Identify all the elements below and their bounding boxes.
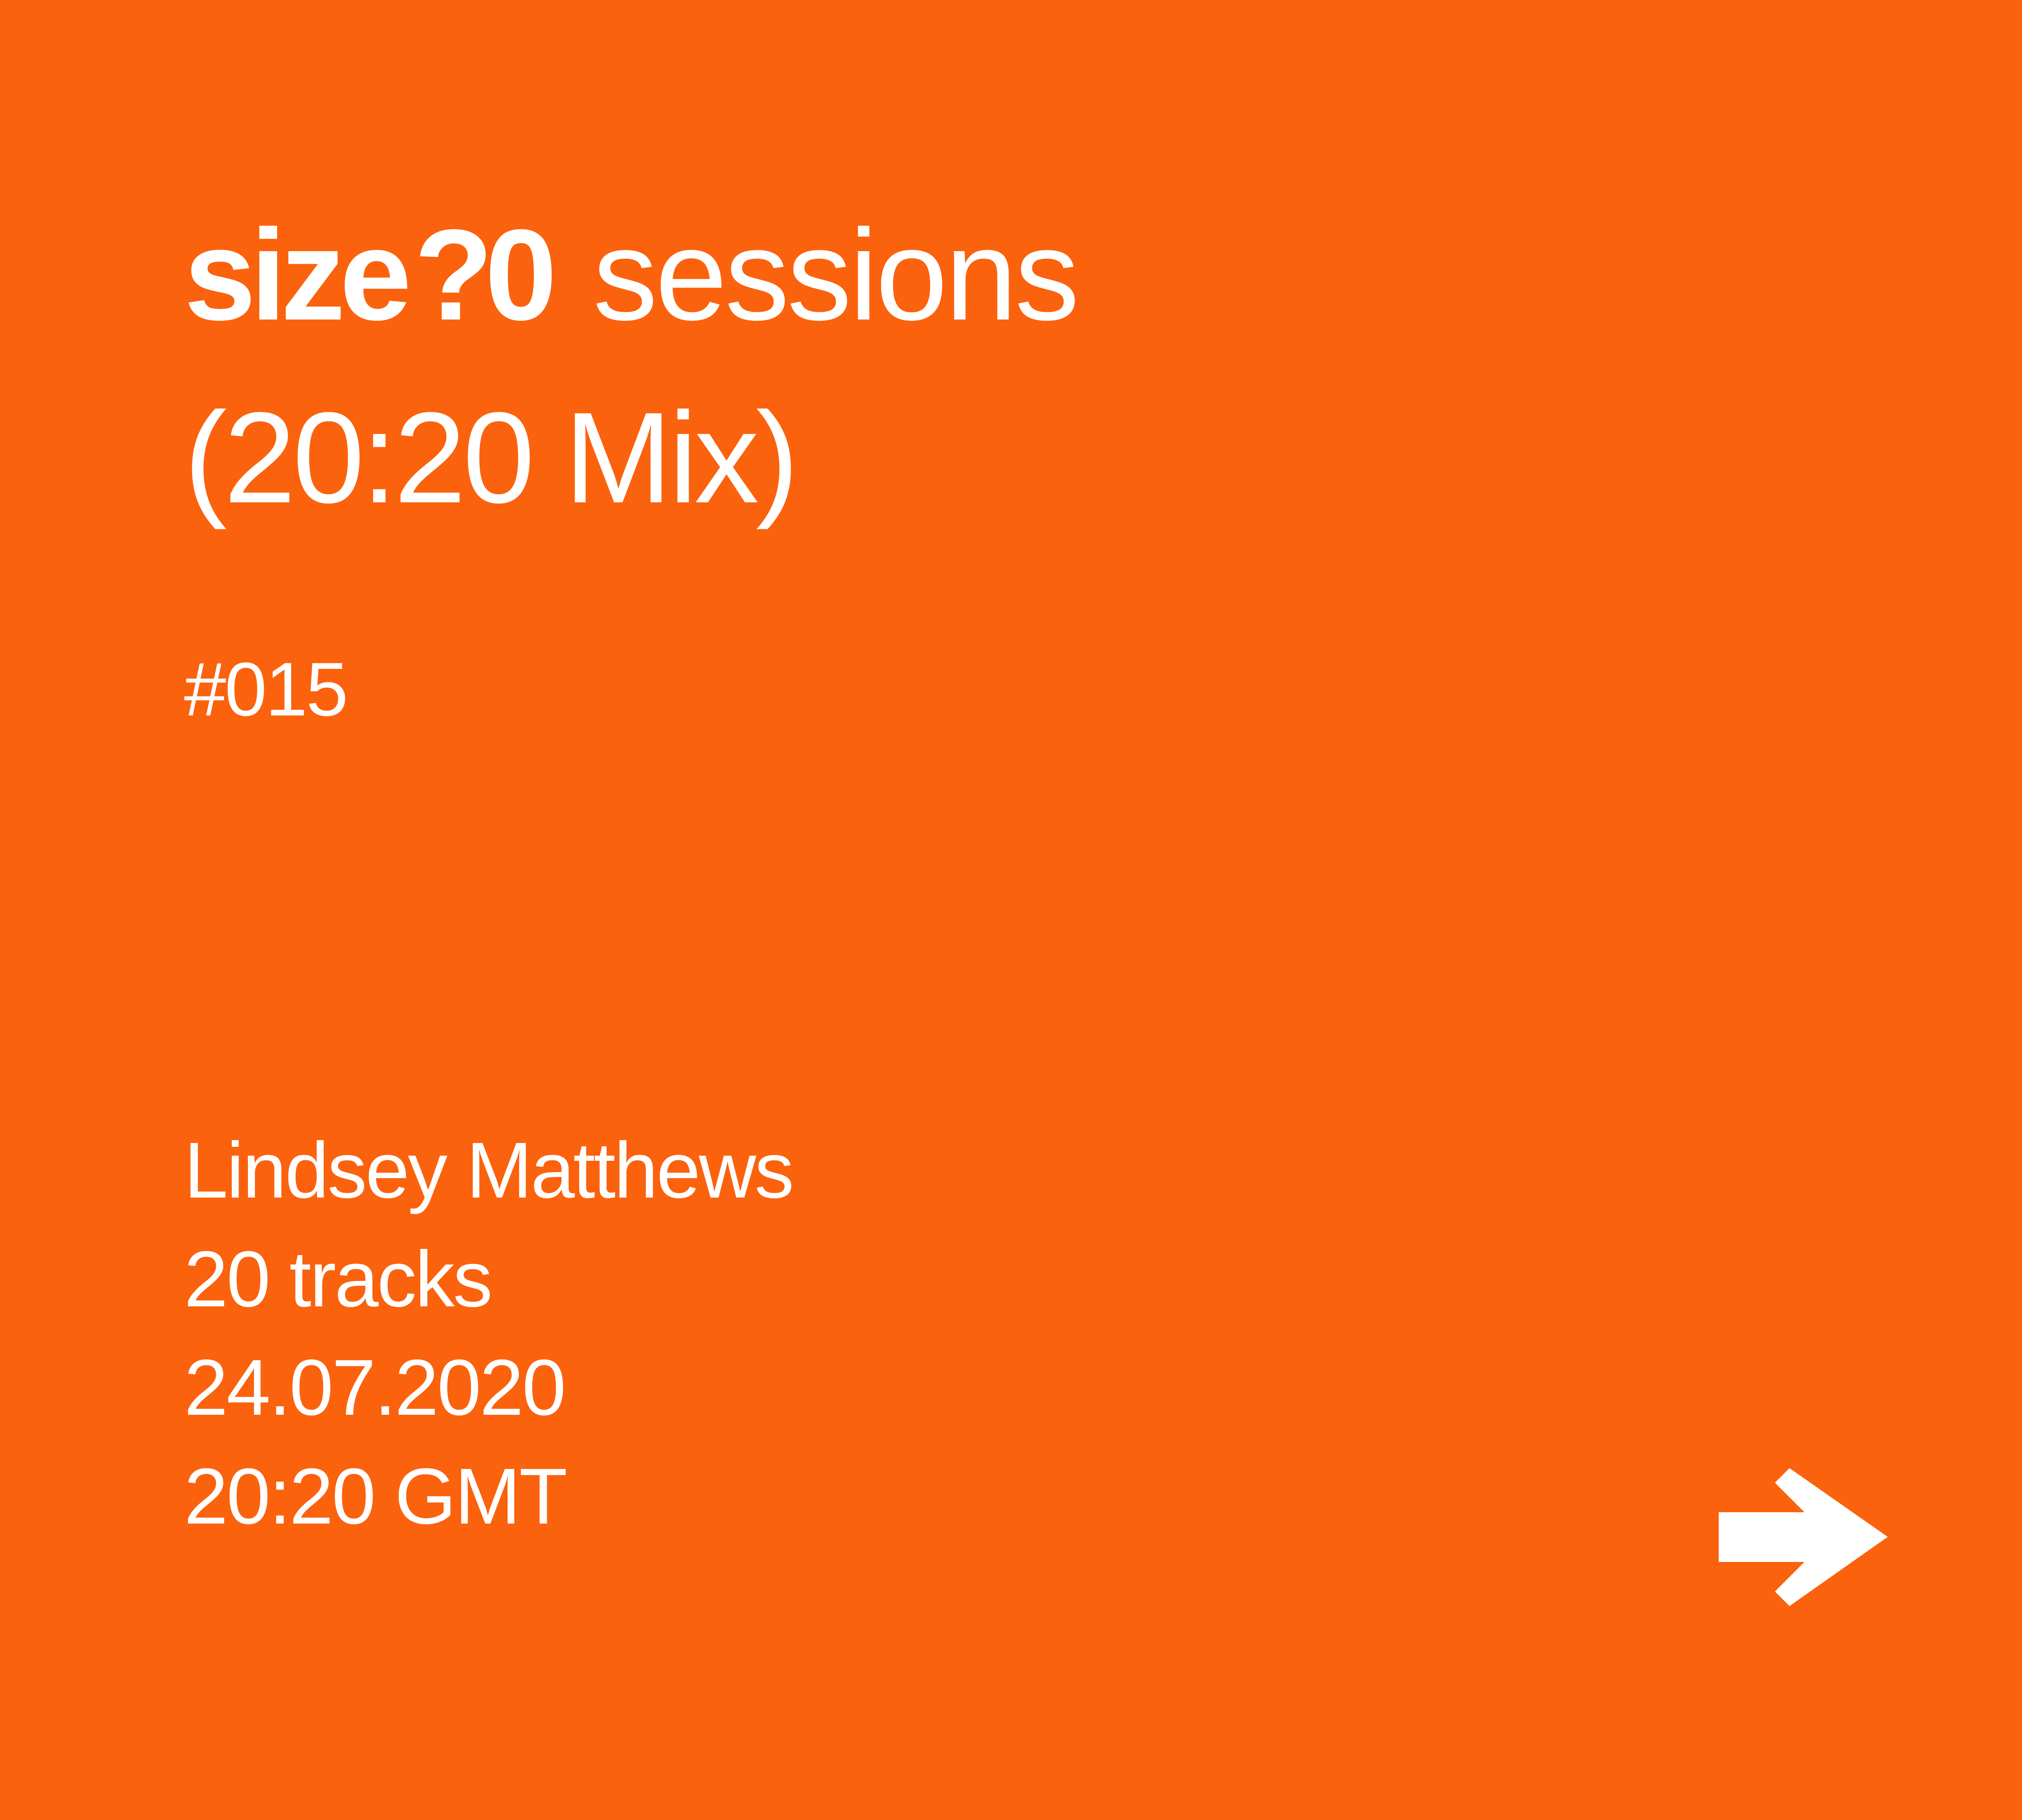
next-arrow-button[interactable] xyxy=(1719,1467,1889,1607)
title-block: size?0 sessions (20:20 Mix) xyxy=(184,174,1923,522)
title-series-word: sessions xyxy=(559,202,1077,347)
brand-logo-question-mark: ? xyxy=(414,202,485,347)
detail-time: 20:20 GMT xyxy=(184,1442,793,1551)
page-title: size?0 sessions xyxy=(184,174,1923,376)
arrow-right-icon xyxy=(1719,1467,1889,1607)
detail-track-count: 20 tracks xyxy=(184,1225,793,1334)
session-promo-card: size?0 sessions (20:20 Mix) #015 Lindsey… xyxy=(0,0,2022,1820)
brand-logo-zero: 0 xyxy=(485,202,559,347)
brand-logo-size: size xyxy=(184,202,414,347)
info-panel: size?0 sessions (20:20 Mix) #015 Lindsey… xyxy=(0,0,2022,1820)
detail-artist: Lindsey Matthews xyxy=(184,1116,793,1225)
details-block: Lindsey Matthews 20 tracks 24.07.2020 20… xyxy=(184,1116,793,1551)
page-subtitle: (20:20 Mix) xyxy=(184,393,1923,522)
detail-date: 24.07.2020 xyxy=(184,1333,793,1442)
issue-number: #015 xyxy=(184,651,347,727)
